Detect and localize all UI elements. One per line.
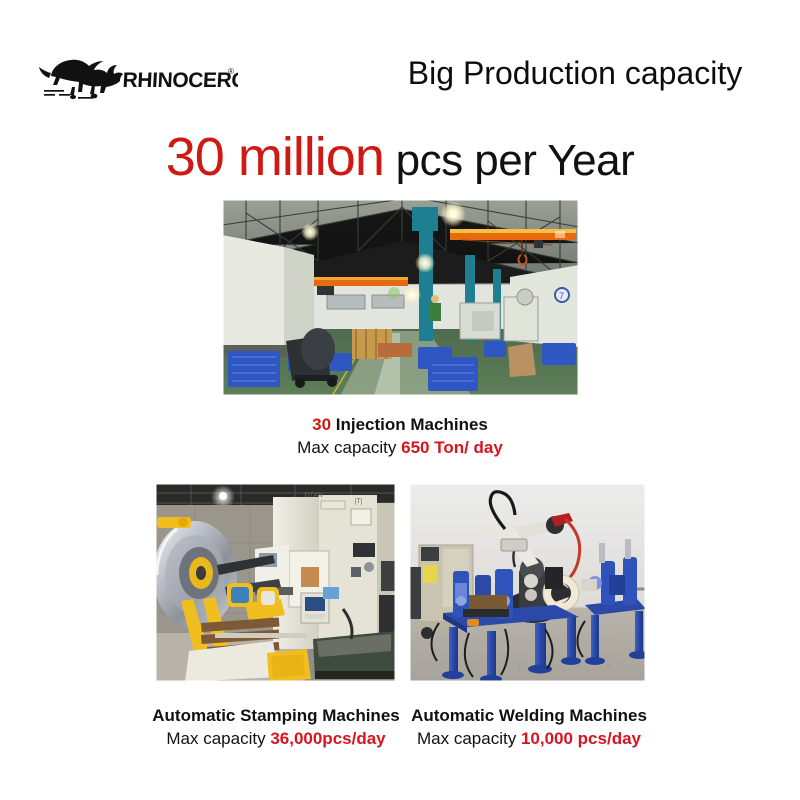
caption-stamping: Automatic Stamping Machines Max capacity… xyxy=(145,705,407,751)
factory-capacity-label: Max capacity xyxy=(297,438,401,457)
headline-highlight: 30 million xyxy=(166,127,384,187)
svg-text:7: 7 xyxy=(559,291,564,301)
stamping-title: Automatic Stamping Machines xyxy=(152,706,399,725)
headline-rest: pcs per Year xyxy=(384,136,634,185)
headline: 30 million pcs per Year xyxy=(0,126,800,188)
marketing-slide: RHINOCEROS ® Big Production capacity 30 … xyxy=(0,0,800,800)
header: RHINOCEROS ® Big Production capacity xyxy=(0,48,800,104)
page-title: Big Production capacity xyxy=(385,48,765,98)
welding-title: Automatic Welding Machines xyxy=(411,706,647,725)
svg-text:[T]: [T] xyxy=(355,499,362,505)
factory-machine-title: Injection Machines xyxy=(331,415,488,434)
welding-capacity-value: 10,000 pcs/day xyxy=(521,729,641,748)
logo-wordmark: RHINOCEROS xyxy=(122,69,238,92)
rhino-icon xyxy=(39,60,123,99)
rhinoceros-logo: RHINOCEROS ® xyxy=(38,54,238,100)
automatic-stamping-machine-photo: TITAN [T] xyxy=(155,483,396,682)
automatic-welding-machine-photo xyxy=(409,483,646,682)
caption-welding: Automatic Welding Machines Max capacity … xyxy=(400,705,658,751)
factory-machine-count: 30 xyxy=(312,415,331,434)
stamping-capacity-value: 36,000pcs/day xyxy=(270,729,385,748)
logo-trademark-icon: ® xyxy=(228,67,234,76)
caption-factory: 30 Injection Machines Max capacity 650 T… xyxy=(200,414,600,460)
factory-capacity-value: 650 Ton/ day xyxy=(401,438,503,457)
svg-text:TITAN: TITAN xyxy=(303,492,324,499)
stamping-capacity-label: Max capacity xyxy=(166,729,270,748)
injection-molding-factory-photo: 7 xyxy=(222,199,579,396)
welding-capacity-label: Max capacity xyxy=(417,729,521,748)
